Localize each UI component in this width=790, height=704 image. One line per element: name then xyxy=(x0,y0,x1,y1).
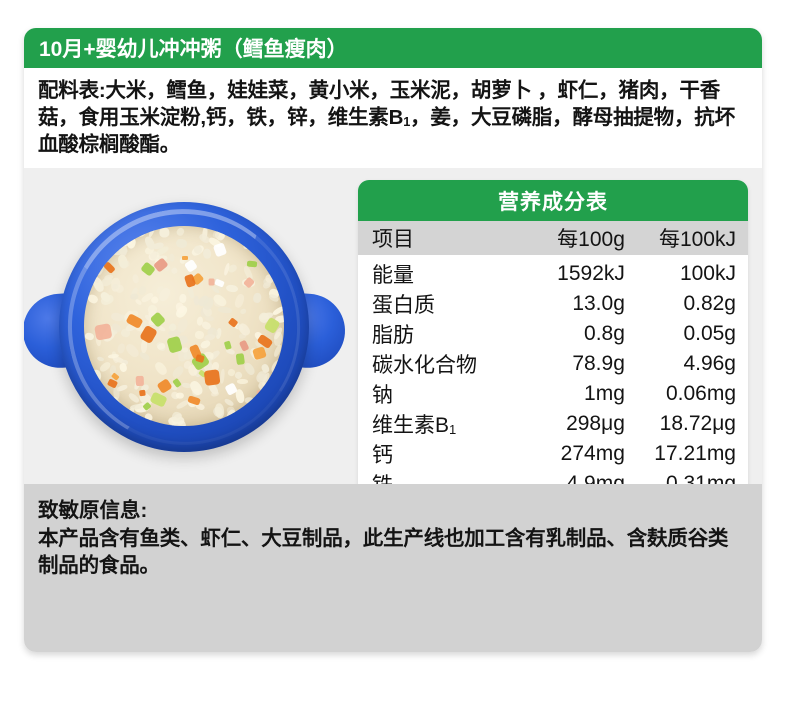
nutrition-value-per100g: 13.0g xyxy=(522,289,635,319)
nutrition-facts-title: 营养成分表 xyxy=(498,186,608,216)
porridge-grain xyxy=(281,406,284,418)
porridge-grain xyxy=(119,260,130,268)
porridge-ingredient-bit xyxy=(157,378,173,394)
porridge-grain xyxy=(179,294,187,304)
product-title-bar: 10月+婴幼儿冲冲粥（鳕鱼瘦肉） xyxy=(24,28,762,68)
porridge-grain xyxy=(223,397,235,407)
porridge-grain xyxy=(97,356,105,362)
porridge-ingredient-bit xyxy=(204,369,220,385)
ingredients-text: 配料表:大米，鳕鱼，娃娃菜，黄小米，玉米泥，胡萝卜 ，虾仁，猪肉，干香菇，食用玉… xyxy=(38,77,748,158)
nutrition-item-label: 钠 xyxy=(358,379,522,409)
nutrition-item-label: 维生素B1 xyxy=(358,409,522,439)
porridge-contents xyxy=(84,226,284,426)
nutrition-item-label: 蛋白质 xyxy=(358,289,522,319)
ingredients-section: 配料表:大米，鳕鱼，娃娃菜，黄小米，玉米泥，胡萝卜 ，虾仁，猪肉，干香菇，食用玉… xyxy=(24,68,762,168)
porridge-grain xyxy=(84,332,94,341)
nutrition-item-label: 钙 xyxy=(358,439,522,469)
porridge-ingredient-bit xyxy=(149,391,167,408)
nutrition-facts-panel: 营养成分表 项目 每100g 每100kJ 能量1592kJ100kJ蛋白质13… xyxy=(358,180,748,535)
porridge-grain xyxy=(176,317,189,333)
vitamin-b1-subscript: 1 xyxy=(449,422,456,437)
porridge-grain xyxy=(112,284,118,289)
nutrition-row: 能量1592kJ100kJ xyxy=(358,255,748,289)
porridge-grain xyxy=(203,248,212,259)
nutrition-value-per100g: 1mg xyxy=(522,379,635,409)
porridge-grain xyxy=(220,369,226,384)
nutrition-value-per100kj: 0.06mg xyxy=(635,379,748,409)
nutrition-facts-header: 营养成分表 xyxy=(358,180,748,221)
nutrition-row: 蛋白质13.0g0.82g xyxy=(358,289,748,319)
porridge-grain xyxy=(237,379,248,384)
nutrition-row: 脂肪0.8g0.05g xyxy=(358,319,748,349)
porridge-grain xyxy=(253,293,263,304)
product-photo xyxy=(29,174,349,484)
porridge-grain xyxy=(171,411,183,423)
porridge-grain xyxy=(169,253,175,261)
porridge-grain xyxy=(87,294,100,305)
nutrition-item-label: 脂肪 xyxy=(358,319,522,349)
nutrition-item-label: 碳水化合物 xyxy=(358,349,522,379)
porridge-ingredient-bit xyxy=(238,339,249,351)
vitamin-b1-subscript: 1 xyxy=(403,114,410,129)
porridge-grain xyxy=(126,237,136,250)
porridge-ingredient-bit xyxy=(235,353,244,365)
column-header-item: 项目 xyxy=(358,221,522,255)
product-title: 10月+婴幼儿冲冲粥（鳕鱼瘦肉） xyxy=(39,33,348,63)
porridge-grain xyxy=(159,228,170,239)
porridge-grain xyxy=(171,365,185,380)
nutrition-value-per100g: 0.8g xyxy=(522,319,635,349)
porridge-ingredient-bit xyxy=(255,398,270,414)
porridge-grain xyxy=(131,274,139,284)
nutrition-row: 碳水化合物78.9g4.96g xyxy=(358,349,748,379)
nutrition-value-per100kj: 18.72μg xyxy=(635,409,748,439)
nutrition-value-per100kj: 0.82g xyxy=(635,289,748,319)
porridge-grain xyxy=(175,238,188,249)
porridge-grain xyxy=(153,360,169,376)
nutrition-value-per100kj: 0.05g xyxy=(635,319,748,349)
column-header-per100g: 每100g xyxy=(522,221,635,255)
nutrition-value-per100kj: 100kJ xyxy=(635,255,748,289)
allergen-section: 致敏原信息: 本产品含有鱼类、虾仁、大豆制品，此生产线也加工含有乳制品、含麸质谷… xyxy=(24,484,762,652)
porridge-grain xyxy=(199,339,212,350)
porridge-grain xyxy=(91,369,102,382)
porridge-ingredient-bit xyxy=(269,263,281,274)
nutrition-value-per100g: 1592kJ xyxy=(522,255,635,289)
nutrition-value-per100g: 78.9g xyxy=(522,349,635,379)
product-info-card: 10月+婴幼儿冲冲粥（鳕鱼瘦肉） 配料表:大米，鳕鱼，娃娃菜，黄小米，玉米泥，胡… xyxy=(24,28,762,652)
nutrition-value-per100kj: 4.96g xyxy=(635,349,748,379)
porridge-ingredient-bit xyxy=(213,243,228,258)
porridge-grain xyxy=(119,363,128,373)
porridge-grain xyxy=(226,284,239,293)
nutrition-header-row: 项目 每100g 每100kJ xyxy=(358,221,748,255)
porridge-grain xyxy=(234,294,245,309)
porridge-ingredient-bit xyxy=(208,278,214,285)
porridge-grain xyxy=(278,416,284,425)
allergen-body: 本产品含有鱼类、虾仁、大豆制品，此生产线也加工含有乳制品、含麸质谷类制品的食品。 xyxy=(38,525,748,579)
porridge-grain xyxy=(110,312,123,323)
porridge-ingredient-bit xyxy=(184,259,198,273)
porridge-grain xyxy=(170,266,179,275)
porridge-grain xyxy=(176,227,186,237)
porridge-grain xyxy=(210,390,219,397)
porridge-ingredient-bit xyxy=(94,323,112,340)
porridge-grain xyxy=(124,342,140,359)
bowl-graphic xyxy=(59,202,309,452)
porridge-grain xyxy=(188,379,204,397)
nutrition-row: 维生素B1298μg18.72μg xyxy=(358,409,748,439)
nutrition-row: 钙274mg17.21mg xyxy=(358,439,748,469)
nutrition-value-per100kj: 17.21mg xyxy=(635,439,748,469)
allergen-title: 致敏原信息: xyxy=(38,498,748,525)
porridge-ingredient-bit xyxy=(103,261,115,273)
porridge-grain xyxy=(243,362,257,377)
porridge-grain xyxy=(218,306,232,313)
nutrition-item-label: 能量 xyxy=(358,255,522,289)
column-header-per100kj: 每100kJ xyxy=(635,221,748,255)
porridge-grain xyxy=(239,308,247,315)
nutrition-value-per100g: 298μg xyxy=(522,409,635,439)
porridge-ingredient-bit xyxy=(182,256,188,260)
porridge-ingredient-bit xyxy=(247,260,258,267)
porridge-grain xyxy=(136,228,146,237)
porridge-ingredient-bit xyxy=(136,376,144,386)
nutrition-value-per100g: 274mg xyxy=(522,439,635,469)
nutrition-row: 钠1mg0.06mg xyxy=(358,379,748,409)
nutrition-table-head: 项目 每100g 每100kJ xyxy=(358,221,748,255)
